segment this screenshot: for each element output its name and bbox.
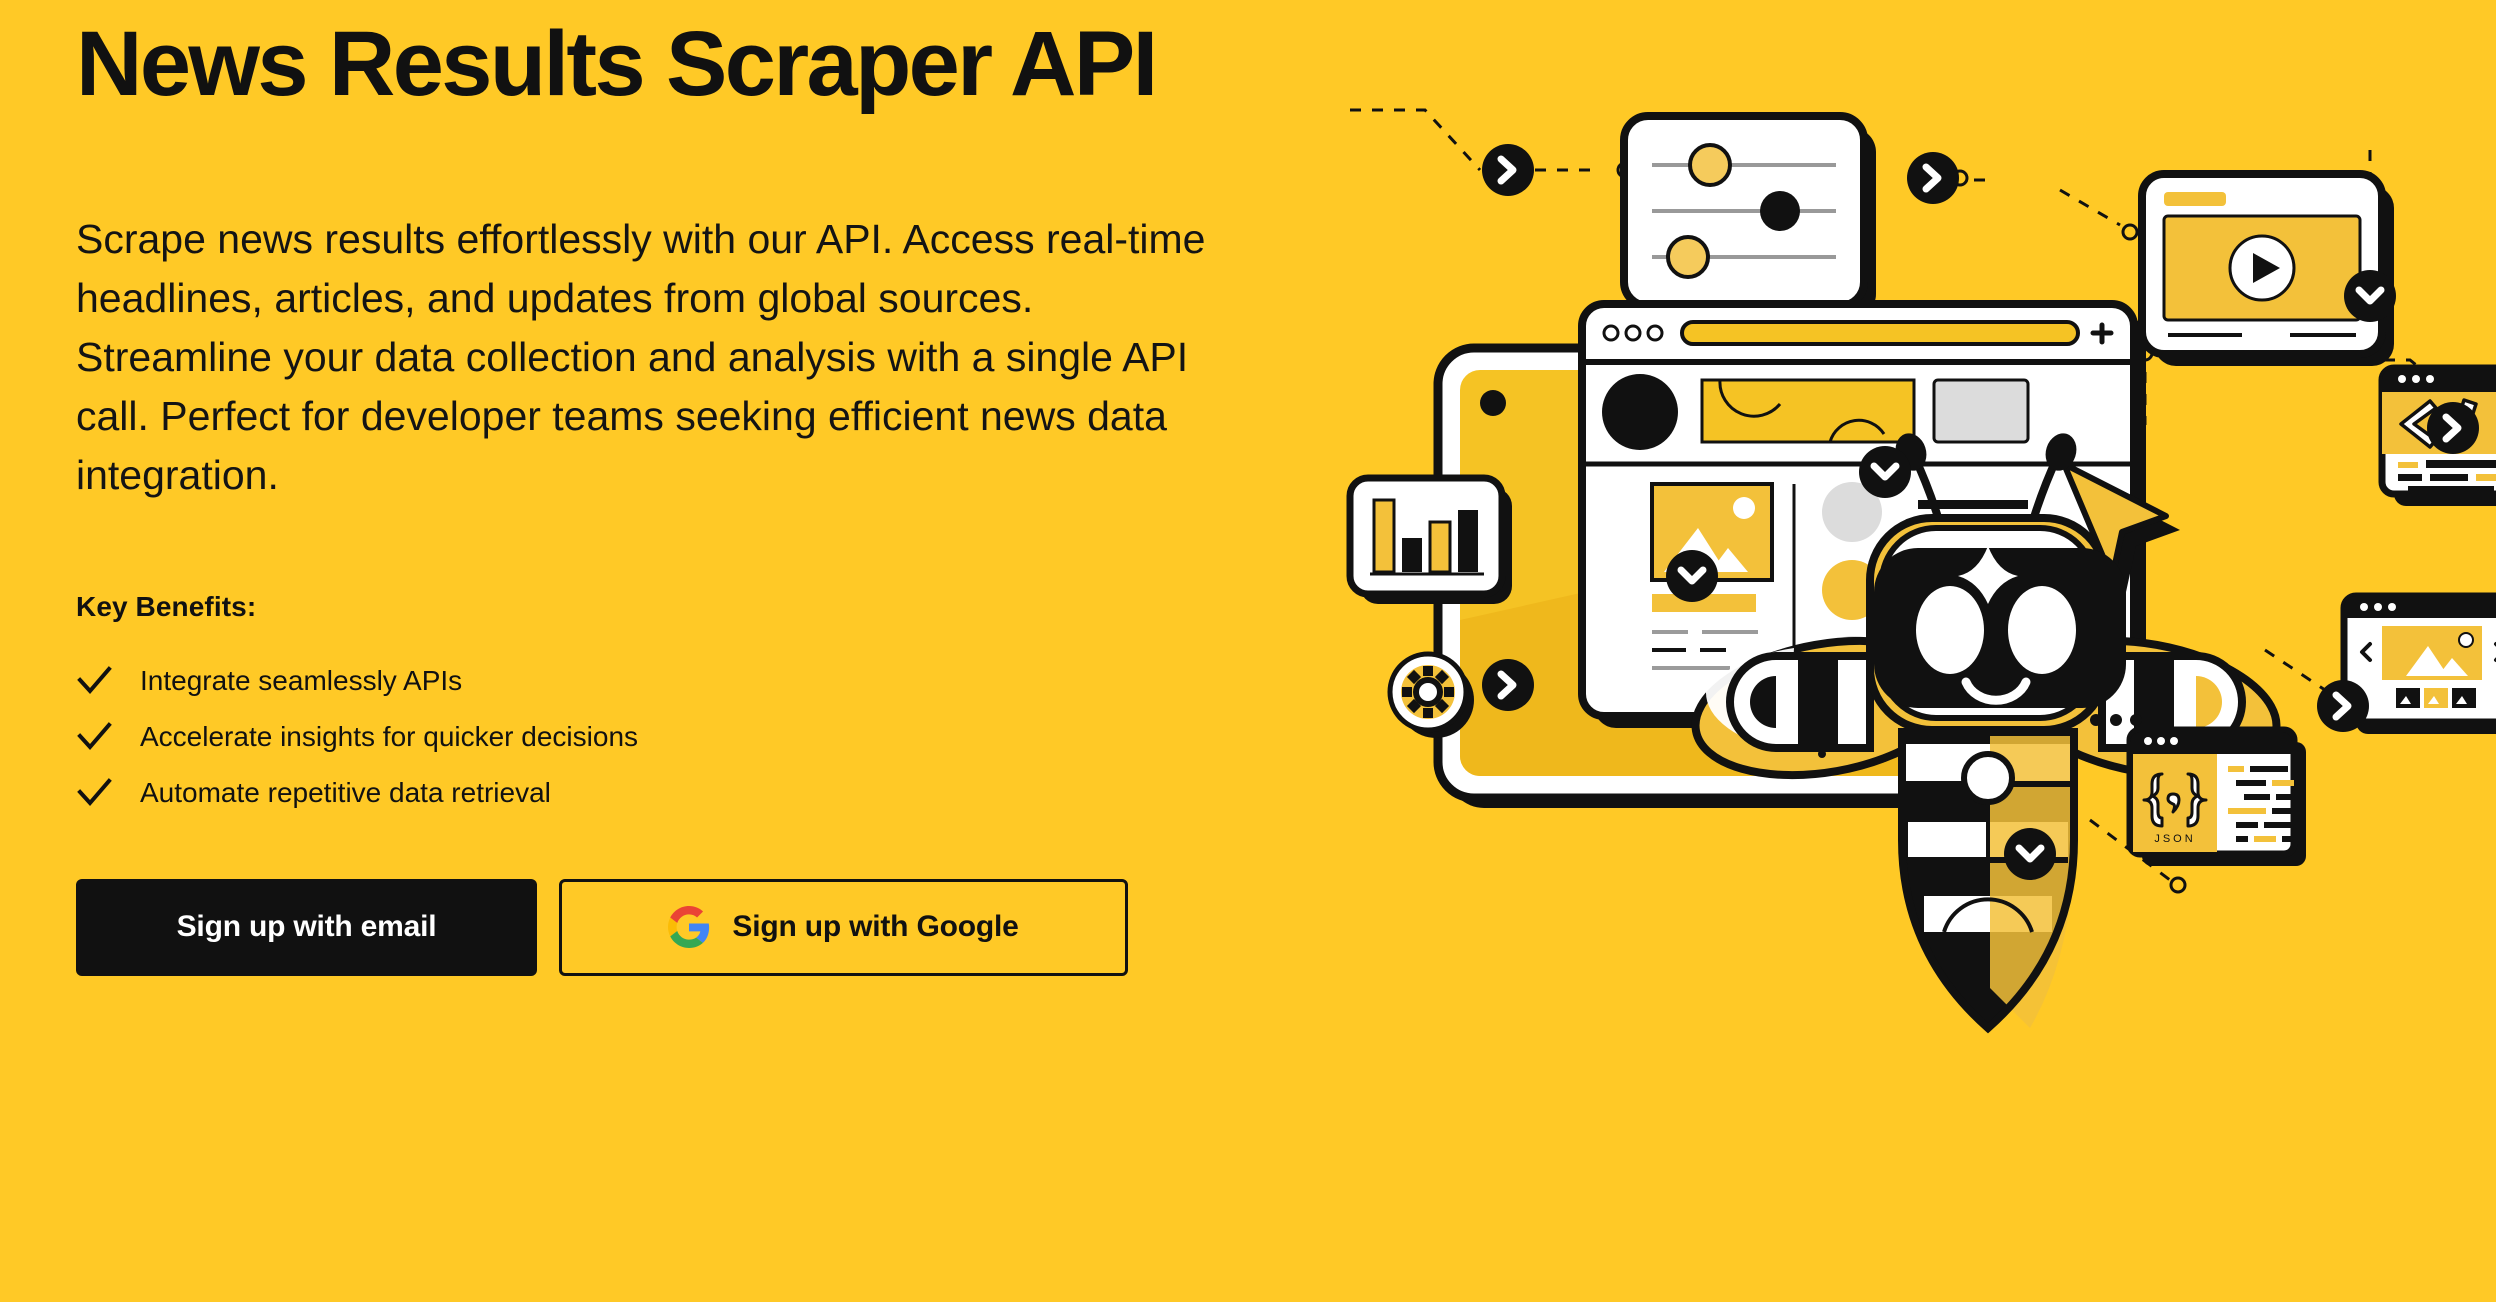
list-item: Accelerate insights for quicker decision…: [76, 719, 1370, 755]
list-item: Automate repetitive data retrieval: [76, 775, 1370, 811]
list-item-label: Accelerate insights for quicker decision…: [140, 722, 638, 753]
hero-text-column: News Results Scraper API Scrape news res…: [0, 0, 1370, 1302]
check-icon: [76, 663, 112, 699]
json-card: JSON: [2130, 730, 2306, 866]
key-benefits-heading: Key Benefits:: [76, 591, 1370, 623]
cta-button-row: Sign up with email Sign up with Google: [76, 879, 1370, 976]
chevron-down-node-icon[interactable]: [2004, 828, 2056, 880]
bar-chart-card: [1350, 478, 1512, 604]
check-icon: [76, 775, 112, 811]
chevron-right-node-icon[interactable]: [1907, 152, 1959, 204]
chevron-down-node-icon[interactable]: [1666, 550, 1718, 602]
chevron-down-node-icon[interactable]: [2344, 270, 2396, 322]
chevron-right-node-icon[interactable]: [2317, 680, 2369, 732]
video-player-card: [2142, 174, 2394, 366]
bee-robot-data-scraping-illustration: JSON: [1330, 60, 2496, 1120]
chevron-down-node-icon[interactable]: [1859, 446, 1911, 498]
google-g-icon: [668, 906, 710, 948]
list-item-label: Automate repetitive data retrieval: [140, 778, 551, 809]
page-title: News Results Scraper API: [76, 18, 1256, 112]
key-benefits-list: Integrate seamlessly APIs Accelerate ins…: [76, 663, 1370, 811]
chevron-right-node-icon[interactable]: [1482, 144, 1534, 196]
sign-up-with-google-label: Sign up with Google: [732, 910, 1018, 944]
sliders-settings-card: [1624, 116, 1876, 318]
sign-up-with-email-button[interactable]: Sign up with email: [76, 879, 537, 976]
hero-illustration-column: JSON: [1370, 0, 2496, 1302]
chevron-right-node-icon[interactable]: [2427, 402, 2479, 454]
sign-up-with-google-button[interactable]: Sign up with Google: [559, 879, 1128, 976]
json-card-label: JSON: [2154, 833, 2195, 845]
list-item-label: Integrate seamlessly APIs: [140, 666, 462, 697]
list-item: Integrate seamlessly APIs: [76, 663, 1370, 699]
chevron-right-node-icon[interactable]: [1482, 659, 1534, 711]
hero-section: News Results Scraper API Scrape news res…: [0, 0, 2496, 1302]
hero-description: Scrape news results effortlessly with ou…: [76, 210, 1236, 505]
check-icon: [76, 719, 112, 755]
